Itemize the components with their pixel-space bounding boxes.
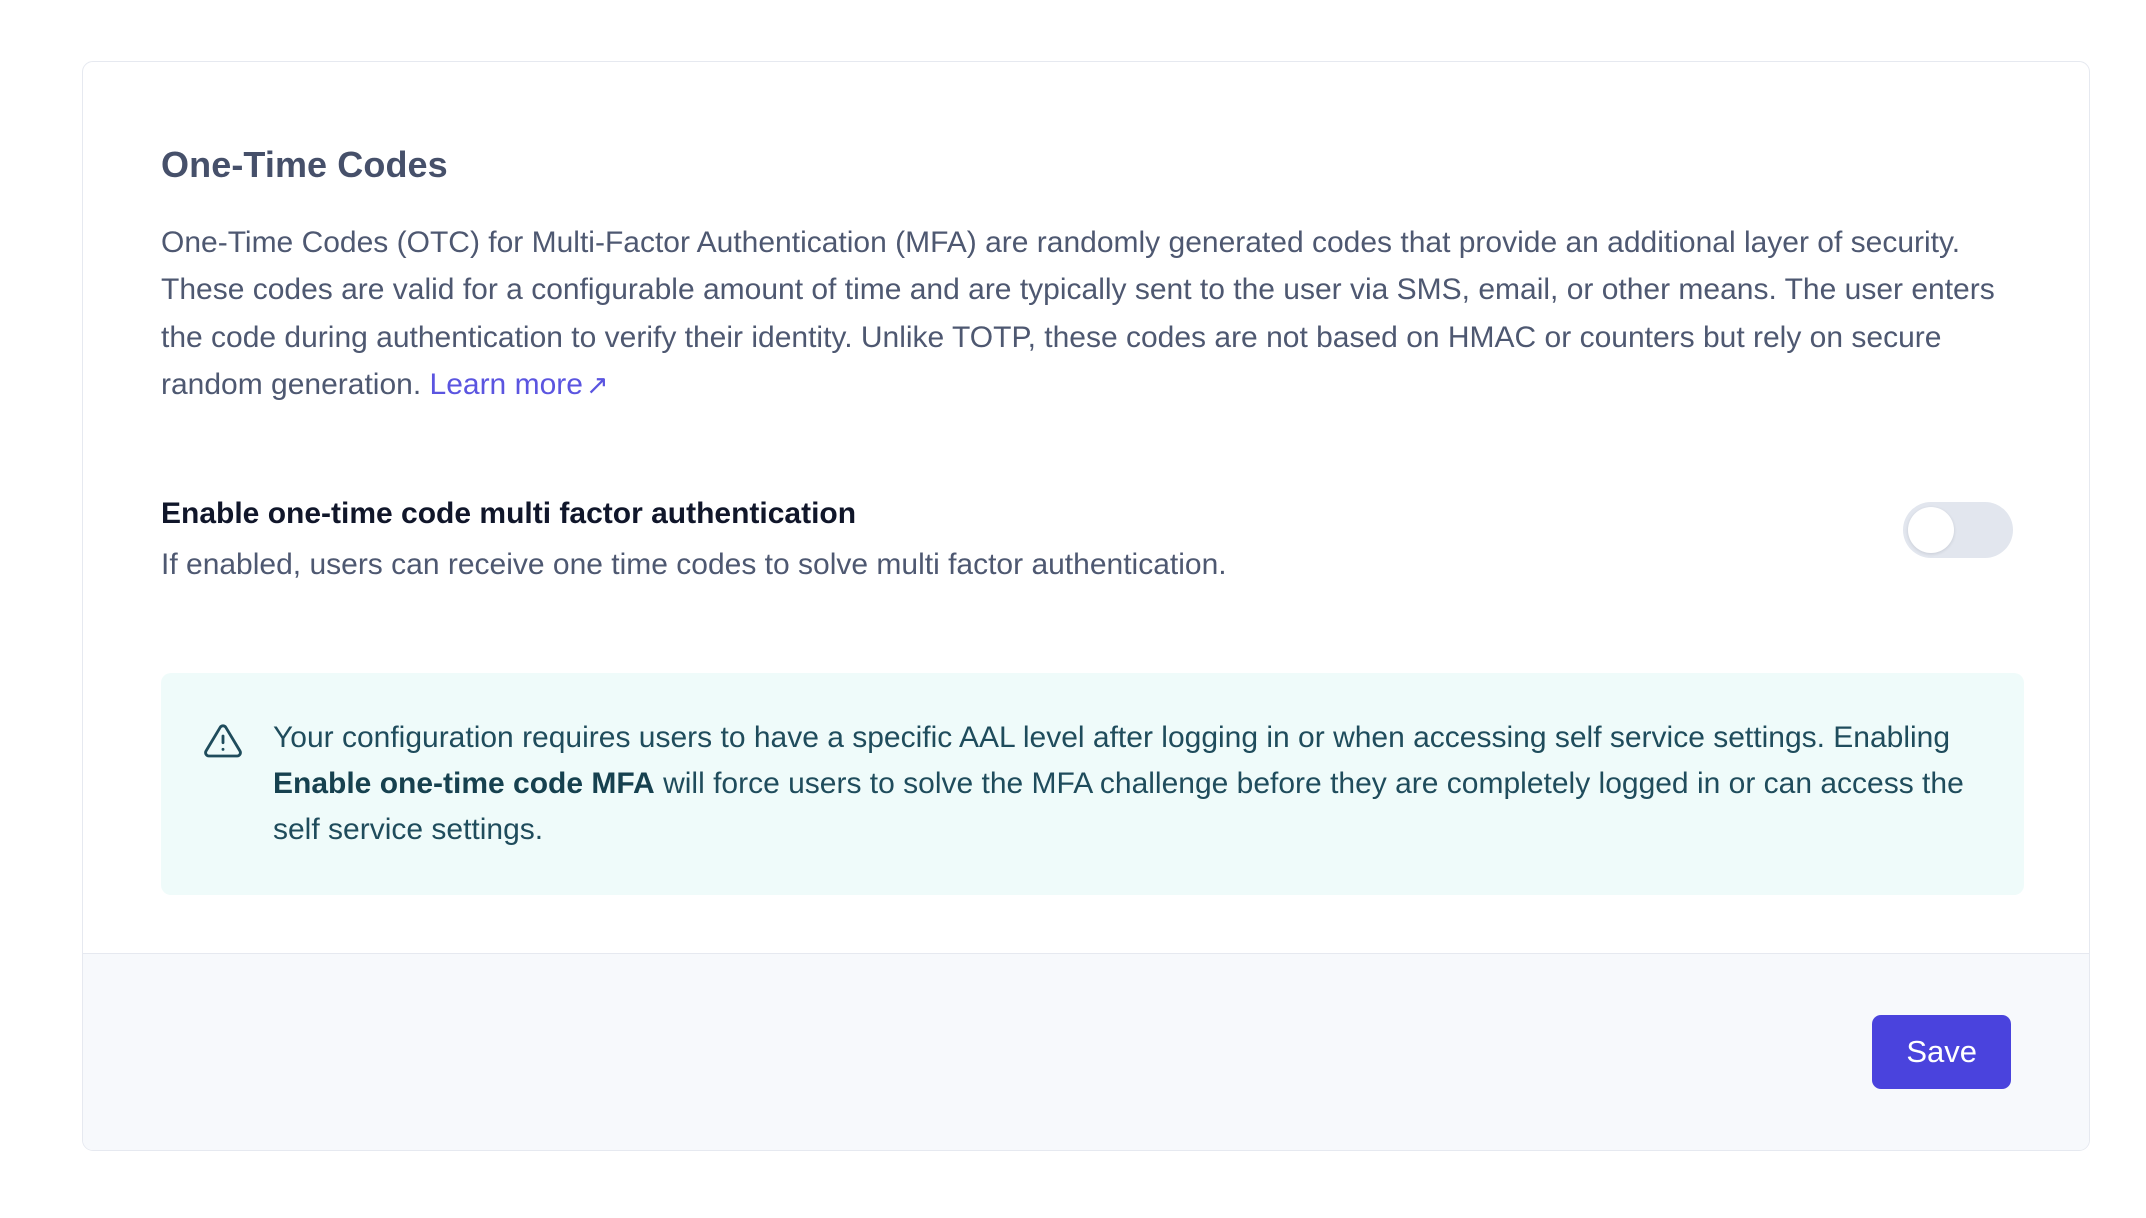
card-description: One-Time Codes (OTC) for Multi-Factor Au… — [161, 219, 2025, 410]
alert-message: Your configuration requires users to hav… — [273, 715, 1978, 853]
toggle-knob — [1908, 507, 1954, 553]
warning-triangle-icon — [203, 721, 243, 761]
page-root: One-Time Codes One-Time Codes (OTC) for … — [0, 0, 2146, 1218]
one-time-codes-card: One-Time Codes One-Time Codes (OTC) for … — [82, 61, 2090, 1151]
enable-otc-mfa-toggle[interactable] — [1903, 502, 2013, 558]
card-body: One-Time Codes One-Time Codes (OTC) for … — [83, 62, 2089, 953]
aal-warning-alert: Your configuration requires users to hav… — [161, 673, 2024, 895]
alert-text-part-1: Your configuration requires users to hav… — [273, 721, 1950, 754]
setting-texts: Enable one-time code multi factor authen… — [161, 496, 1903, 583]
save-button[interactable]: Save — [1872, 1015, 2011, 1089]
setting-row-enable-otc-mfa: Enable one-time code multi factor authen… — [161, 496, 2025, 583]
card-footer: Save — [83, 953, 2089, 1150]
external-link-arrow-icon: ↗ — [586, 362, 609, 410]
setting-label: Enable one-time code multi factor authen… — [161, 496, 1903, 532]
learn-more-label: Learn more — [430, 368, 583, 401]
setting-help-text: If enabled, users can receive one time c… — [161, 547, 1903, 583]
alert-text-bold: Enable one-time code MFA — [273, 767, 655, 800]
page-title: One-Time Codes — [161, 145, 2025, 185]
learn-more-link[interactable]: Learn more↗ — [430, 368, 609, 401]
